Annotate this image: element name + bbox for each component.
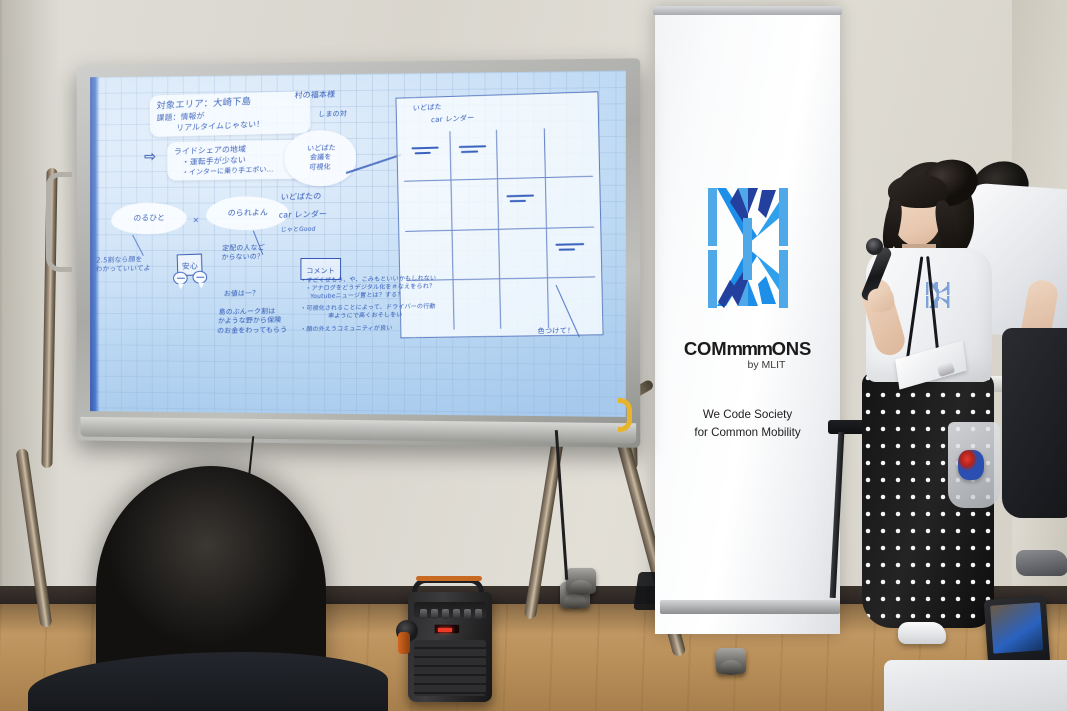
speaker-knob[interactable] [475,609,482,619]
caster-front-right [716,648,746,674]
brand-part1: COM [684,338,727,359]
tagline-line-2: for Common Mobility [655,424,840,442]
calendar-caption: 色つけて！ [537,327,575,337]
microphone-head-icon [866,238,883,255]
foreground-phone[interactable] [984,596,1051,668]
calendar-cell [403,131,451,182]
rollup-banner: COMmmmONS by MLIT We Code Society for Co… [655,6,840,634]
speaker-orange-accent [398,632,410,654]
foreground-white-surface [884,660,1067,711]
calendar-cell [404,181,452,232]
calendar-cell [500,278,548,329]
logo-container [655,184,840,312]
presenter-person [862,160,992,680]
calendar-cell [499,228,547,279]
banner-bottom-rail [660,600,840,614]
speaker-knob[interactable] [431,609,438,619]
speaker-handle-grip [416,576,482,581]
calendar-cell [546,227,595,278]
whiteboard-canvas[interactable]: 対象エリア：大崎下島 課題：情報が リアルタイムじゃない！ ⇨ ライドシェアの地… [90,71,626,417]
bag-charm [958,450,984,480]
stool-leg-1 [830,432,845,598]
calendar-cell [450,130,498,181]
presentation-scene: COMmmmONS by MLIT We Code Society for Co… [0,0,1067,711]
caster-rear [566,568,596,594]
calendar-cell [451,180,499,231]
display-side-handle [46,172,72,272]
calendar-title-2: car レンダー [431,114,475,126]
banner-top-rail [653,6,842,15]
calendar-title-1: いどばた [412,103,442,114]
brand-byline: by MLIT [655,359,840,371]
tagline-line-1: We Code Society [655,406,840,424]
brand-tagline: We Code Society for Common Mobility [655,406,840,442]
speaker-knob[interactable] [453,609,460,619]
speaker-control-panel[interactable] [414,602,486,618]
calendar-cell [452,229,500,280]
brand-wordmark: COMmmmONS [655,338,840,360]
foreground-phone-screen[interactable] [990,602,1043,653]
brand-part2: mmm [726,338,771,359]
brand-part3: ONS [772,338,812,359]
bystander-shoe [1016,550,1067,576]
commmons-logo-icon [700,184,796,312]
calendar-cell [545,177,594,228]
speaker-knob[interactable] [442,609,449,619]
calendar-cell [405,230,453,280]
calendar-cell [453,279,501,329]
display-bezel: 対象エリア：大崎下島 課題：情報が リアルタイムじゃない！ ⇨ ライドシェアの地… [77,58,641,448]
presenter-sneaker [898,622,946,644]
speaker-led-display [434,624,460,634]
speaker-knob[interactable] [464,609,471,619]
calendar-cell [498,178,546,229]
calendar-cell [497,128,545,179]
display-panel[interactable]: 対象エリア：大崎下島 課題：情報が リアルタイムじゃない！ ⇨ ライドシェアの地… [90,71,626,417]
calendar-cell [544,127,593,178]
bystander-pants [1002,328,1067,518]
display-bottom-rail [80,417,636,444]
portable-pa-speaker[interactable] [408,592,492,702]
speaker-grille [414,640,486,696]
speaker-knob[interactable] [420,609,427,619]
wall-seam [0,0,2,600]
